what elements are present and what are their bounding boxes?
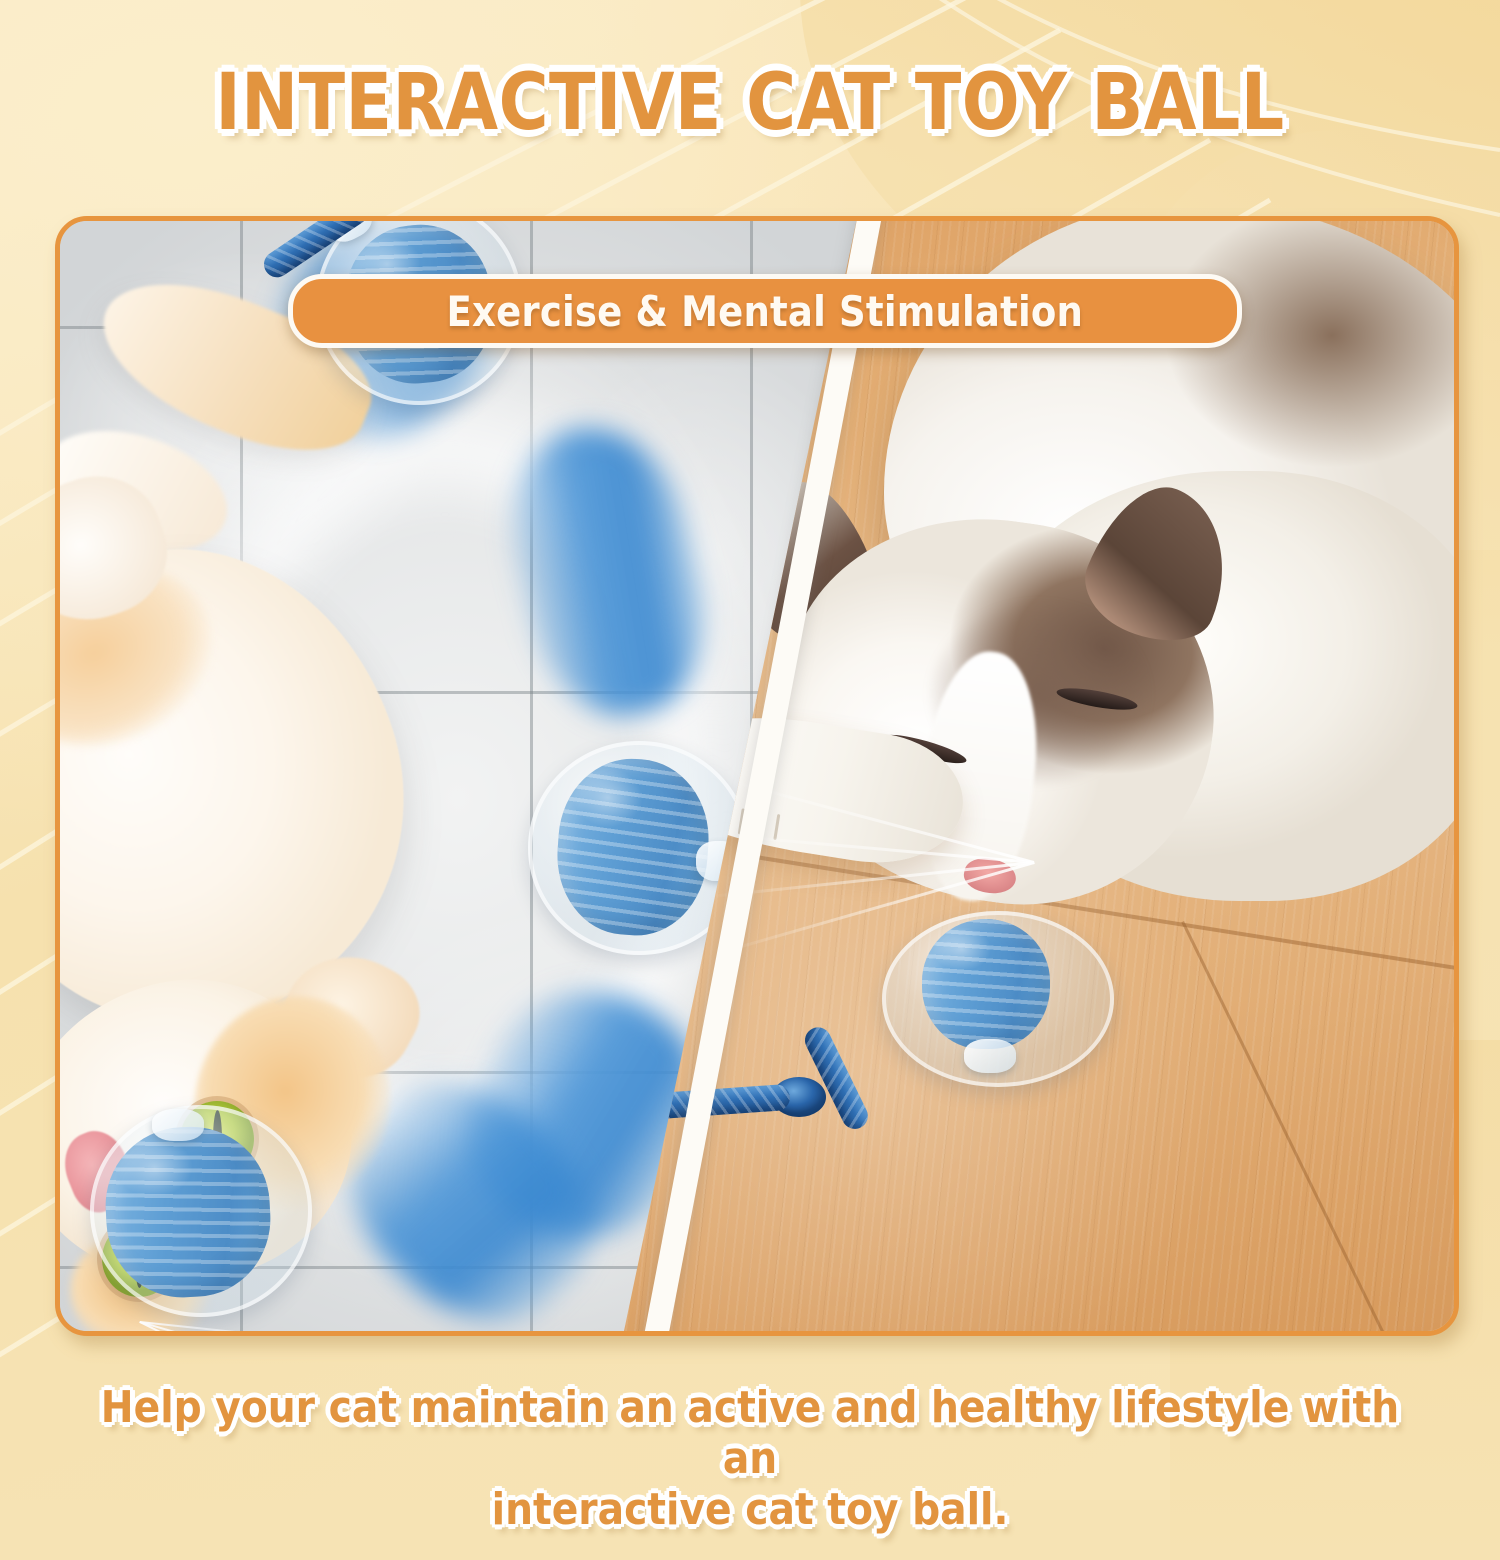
page-caption: Help your cat maintain an active and hea… <box>67 1382 1433 1535</box>
rope-segment <box>801 1023 873 1133</box>
page-title: INTERACTIVE CAT TOY BALL <box>23 58 1478 148</box>
toy-rope-tail <box>256 221 396 281</box>
ball-blue-core <box>922 919 1050 1049</box>
toy-rope-tail <box>642 1031 1002 1151</box>
product-photo-collage <box>55 216 1459 1336</box>
toy-ball <box>90 1105 312 1317</box>
ball-rope-mount <box>152 1109 204 1141</box>
cat-whiskers <box>140 1321 420 1331</box>
caption-line-2: interactive cat toy ball. <box>67 1484 1433 1535</box>
ball-blue-core <box>102 1123 275 1301</box>
ball-blue-core <box>552 754 714 940</box>
caption-line-1: Help your cat maintain an active and hea… <box>67 1382 1433 1484</box>
feature-badge: Exercise & Mental Stimulation <box>288 274 1242 348</box>
feature-badge-label: Exercise & Mental Stimulation <box>447 287 1084 336</box>
